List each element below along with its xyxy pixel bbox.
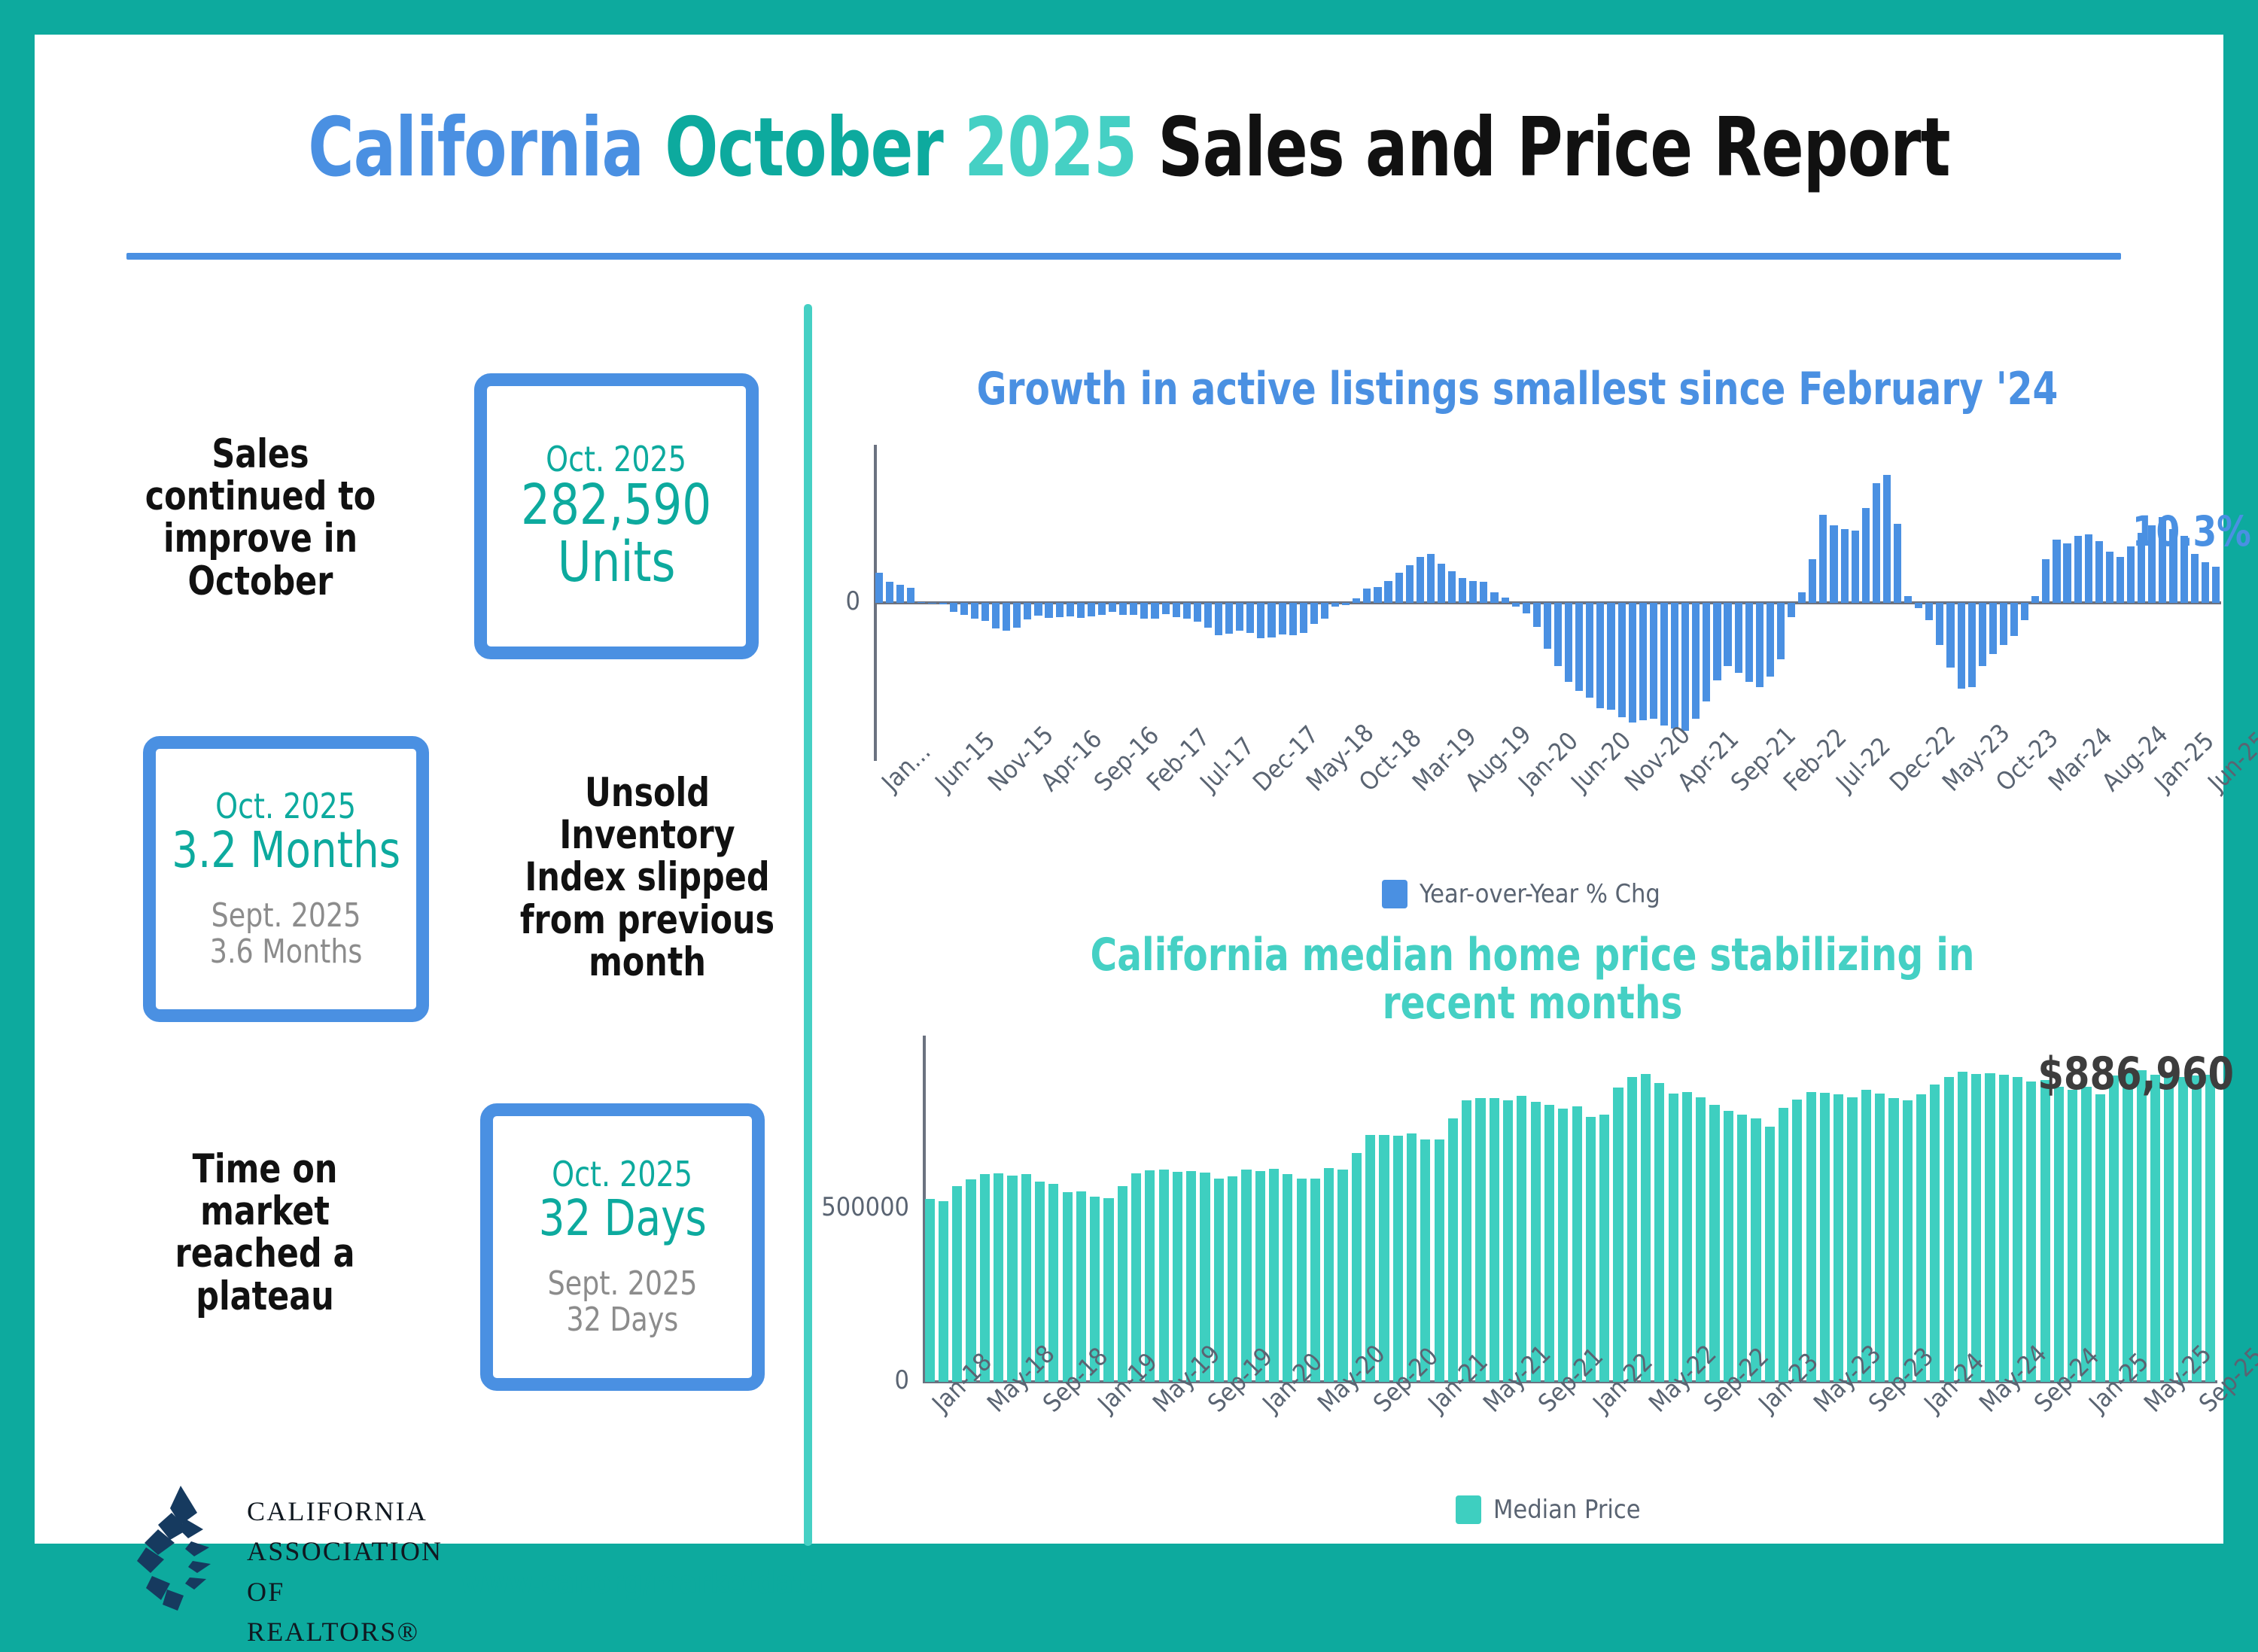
bar: [1225, 603, 1233, 634]
bar-slot: [2211, 445, 2221, 761]
bar-slot: [964, 1036, 978, 1382]
bar-slot: [1281, 1036, 1295, 1382]
bar-slot: [980, 445, 991, 761]
bar-slot: [1763, 1036, 1776, 1382]
bar: [1756, 603, 1763, 687]
bar: [1792, 1100, 1802, 1382]
bar-slot: [1924, 445, 1934, 761]
bar: [1627, 1077, 1637, 1382]
bar-slot: [1047, 1036, 1061, 1382]
bar: [1979, 603, 1986, 666]
bar-slot: [1404, 445, 1415, 761]
bar: [1324, 1168, 1334, 1382]
bar-slot: [1074, 1036, 1088, 1382]
bar: [2031, 596, 2039, 603]
bar-slot: [1277, 445, 1288, 761]
stat-box-days-on-market[interactable]: Oct. 2025 32 Days Sept. 2025 32 Days: [480, 1103, 765, 1391]
bar: [1788, 603, 1795, 617]
bar-slot: [1255, 445, 1266, 761]
bar-slot: [1956, 445, 1967, 761]
bar-slot: [1298, 445, 1309, 761]
bar-slot: [1033, 445, 1043, 761]
bar: [1671, 603, 1678, 729]
bar: [1613, 1088, 1623, 1382]
bar: [981, 603, 989, 621]
bar-slot: [2030, 445, 2040, 761]
bar-slot: [936, 1036, 950, 1382]
bar: [1003, 603, 1010, 631]
blurb-days-on-market: Time on market reached a plateau: [123, 1148, 407, 1318]
bar-slot: [1319, 445, 1330, 761]
bar: [1958, 1072, 1967, 1382]
bar-slot: [1500, 445, 1511, 761]
infographic-frame: California October 2025 Sales and Price …: [35, 35, 2223, 1544]
bar-slot: [1489, 445, 1499, 761]
bar: [1173, 603, 1180, 617]
bar: [896, 585, 904, 603]
bar-slot: [1595, 445, 1605, 761]
bar-slot: [1460, 1036, 1474, 1382]
bar: [1916, 1094, 1926, 1382]
bar: [1737, 1115, 1747, 1382]
bar: [2116, 557, 2124, 603]
logo-line-2: ASSOCIATION: [247, 1532, 443, 1571]
bar-slot: [1570, 1036, 1584, 1382]
bar: [2042, 559, 2050, 603]
bar-slot: [1598, 1036, 1611, 1382]
bar: [2164, 1074, 2174, 1382]
bar: [1517, 1096, 1526, 1382]
bar-slot: [1903, 445, 1913, 761]
bar: [1246, 603, 1254, 633]
stat-inventory-prev-label: Sept. 2025: [211, 898, 361, 934]
bar: [2021, 603, 2028, 620]
bar-slot: [1170, 1036, 1184, 1382]
title-part-california: California: [308, 101, 665, 195]
bar-slot: [1776, 1036, 1790, 1382]
bar-slot: [2083, 445, 2094, 761]
bar: [1713, 603, 1721, 680]
bar: [1903, 1100, 1913, 1382]
bar: [1353, 598, 1360, 603]
bar-slot: [1012, 445, 1022, 761]
bar: [1894, 524, 1901, 603]
title-part-month: October: [665, 101, 964, 195]
y-axis-tick: 500000: [729, 1192, 909, 1222]
bar: [1681, 603, 1689, 731]
blurb-sales: Sales continued to improve in October: [118, 434, 403, 603]
bar-slot: [2025, 1036, 2038, 1382]
bar-slot: [1998, 445, 2009, 761]
legend-median-price: Median Price: [1456, 1495, 1641, 1525]
bar: [980, 1174, 990, 1382]
bar-slot: [1419, 1036, 1432, 1382]
bar-slot: [1818, 1036, 1831, 1382]
bar: [1925, 603, 1933, 620]
bar-slot: [1362, 445, 1372, 761]
bar: [1151, 603, 1158, 619]
bar: [1374, 587, 1381, 603]
bar: [1692, 603, 1700, 719]
bar: [1654, 1083, 1664, 1382]
bar: [1013, 603, 1021, 628]
bar-slot: [1970, 1036, 1983, 1382]
bar-slot: [2062, 445, 2073, 761]
bar-slot: [1744, 445, 1754, 761]
bar-slot: [1694, 1036, 1708, 1382]
bar: [928, 603, 936, 604]
bar-slot: [1501, 1036, 1514, 1382]
bar-slot: [948, 445, 959, 761]
bar-slot: [1553, 445, 1563, 761]
bar-slot: [1887, 1036, 1900, 1382]
bar-slot: [1574, 445, 1584, 761]
bar-slot: [2200, 445, 2211, 761]
bar-slot: [1245, 445, 1255, 761]
bar-slot: [1542, 445, 1553, 761]
bar: [1007, 1176, 1017, 1382]
title-part-year: 2025: [964, 101, 1158, 195]
bar: [1145, 1170, 1155, 1382]
bar-slot: [874, 445, 884, 761]
bar: [2106, 552, 2113, 603]
bar: [1779, 1108, 1788, 1382]
bar: [1475, 1098, 1485, 1382]
bar: [1533, 603, 1541, 627]
bar-slot: [1129, 1036, 1143, 1382]
bar: [1809, 559, 1816, 603]
bar-slot: [1468, 445, 1478, 761]
bar-slot: [1426, 445, 1436, 761]
bar-slot: [1065, 445, 1076, 761]
stat-dom-prev-label: Sept. 2025: [548, 1266, 698, 1302]
bar-slot: [1266, 445, 1277, 761]
bar: [1558, 1109, 1568, 1382]
legend-swatch-icon: [1456, 1495, 1481, 1524]
bar: [1215, 603, 1222, 635]
bar: [1830, 525, 1837, 603]
car-logo-mark: [125, 1483, 238, 1612]
bar-slot: [2019, 445, 2030, 761]
bar: [1989, 603, 1997, 654]
bar: [1883, 475, 1891, 603]
bar-slot: [1377, 1036, 1391, 1382]
bar-slot: [1185, 1036, 1198, 1382]
bar-slot: [1054, 445, 1065, 761]
bar: [1162, 603, 1170, 614]
bar-slot: [1928, 1036, 1942, 1382]
bar: [2191, 554, 2199, 603]
bar-slot: [2009, 445, 2019, 761]
bar: [1269, 1169, 1279, 1382]
bar: [1777, 603, 1785, 659]
bar-slot: [1625, 1036, 1639, 1382]
bar: [1669, 1094, 1678, 1382]
bar: [1194, 603, 1201, 622]
bar: [1395, 573, 1403, 603]
bar-slot: [1515, 1036, 1529, 1382]
bar-slot: [1457, 445, 1468, 761]
bar: [1435, 1139, 1444, 1382]
bar-slot: [1432, 1036, 1446, 1382]
bar: [1310, 603, 1318, 624]
bar-slot: [1584, 445, 1595, 761]
bar: [2095, 541, 2103, 603]
bar: [1407, 1133, 1417, 1382]
bar-slot: [1983, 1036, 1997, 1382]
bar: [2085, 534, 2092, 603]
bar: [1958, 603, 1965, 689]
bar: [1045, 603, 1052, 618]
bar-slot: [1832, 1036, 1846, 1382]
bar-slot: [1340, 445, 1351, 761]
title-divider: [126, 253, 2121, 260]
y-axis-tick: 0: [729, 1365, 909, 1395]
bar: [1289, 603, 1297, 635]
bar: [1703, 603, 1710, 701]
stat-box-inventory[interactable]: Oct. 2025 3.2 Months Sept. 2025 3.6 Mont…: [143, 736, 429, 1022]
stat-inventory-value: 3.2 Months: [172, 825, 400, 875]
bar: [1459, 578, 1466, 603]
bar: [2178, 1077, 2188, 1382]
bar-slot: [1942, 1036, 1955, 1382]
bar-slot: [1861, 445, 1871, 761]
bar: [1554, 603, 1562, 666]
stat-dom-prev-value: 32 Days: [567, 1302, 679, 1338]
bar-slot: [2136, 445, 2147, 761]
bar-slot: [2168, 445, 2178, 761]
bar: [875, 573, 883, 603]
bar: [2150, 1075, 2160, 1382]
bar: [1660, 603, 1668, 726]
callout-active-listings: 10.3%: [2132, 507, 2251, 555]
bar-slot: [1680, 1036, 1693, 1382]
bar: [1724, 603, 1731, 666]
bar-slot: [1712, 445, 1722, 761]
bar-slot: [1913, 445, 1924, 761]
bar-slot: [1638, 445, 1648, 761]
bar: [2026, 1082, 2036, 1382]
bar-slot: [1786, 445, 1797, 761]
bar: [950, 603, 957, 612]
bar-slot: [1267, 1036, 1280, 1382]
bar: [1342, 603, 1350, 605]
bar-slot: [1446, 1036, 1459, 1382]
bar-slot: [1988, 445, 1998, 761]
bar-slot: [2051, 445, 2062, 761]
bar: [1650, 603, 1657, 719]
bar: [1173, 1172, 1182, 1382]
bar-slot: [1708, 1036, 1721, 1382]
bar-slot: [2179, 445, 2190, 761]
bar-slot: [2115, 445, 2126, 761]
bar: [1607, 603, 1614, 710]
bar: [1806, 1092, 1816, 1382]
bar-slot: [1157, 1036, 1170, 1382]
logo-line-3: OF REALTORS®: [247, 1572, 443, 1652]
bar-slot: [1322, 1036, 1336, 1382]
bar: [1599, 1115, 1609, 1382]
bar: [1985, 1073, 1995, 1382]
bar-slot: [1415, 445, 1426, 761]
bar: [1709, 1105, 1719, 1382]
bar: [1873, 483, 1880, 603]
bar: [1300, 603, 1307, 633]
callout-median-price: $886,960: [2037, 1048, 2234, 1100]
bar-slot: [1563, 445, 1574, 761]
legend-active-listings: Year-over-Year % Chg: [1382, 879, 1660, 909]
bar-slot: [1478, 445, 1489, 761]
bar-slot: [1532, 445, 1542, 761]
bar: [1098, 603, 1106, 615]
bar: [1503, 1100, 1513, 1382]
bar-slot: [1859, 1036, 1873, 1382]
bar: [994, 1173, 1003, 1382]
bar: [2000, 603, 2007, 645]
chart-active-listings: 0Jan...Jun-15Nov-15Apr-16Sep-16Feb-17Jul…: [874, 445, 2221, 761]
bar-slot: [1690, 445, 1701, 761]
bar: [2053, 540, 2060, 603]
bar-slot: [1474, 1036, 1487, 1382]
bar: [2081, 1087, 2091, 1382]
bar-slot: [1934, 445, 1945, 761]
bar: [1639, 603, 1647, 720]
bar-slot: [1372, 445, 1383, 761]
bar: [1283, 1174, 1292, 1382]
bar-slot: [1022, 445, 1033, 761]
bar-slot: [923, 1036, 936, 1382]
bar-slot: [1161, 445, 1171, 761]
bar: [1279, 603, 1286, 634]
bar-slot: [916, 445, 927, 761]
bar: [952, 1186, 962, 1382]
bar-slot: [1295, 1036, 1308, 1382]
bar: [1379, 1135, 1389, 1382]
car-logo-text: CALIFORNIA ASSOCIATION OF REALTORS®: [247, 1492, 443, 1652]
bar: [1406, 565, 1414, 603]
bar-slot: [1487, 1036, 1501, 1382]
bar-slot: [1882, 445, 1892, 761]
bar: [1159, 1170, 1169, 1382]
bar: [1438, 564, 1445, 603]
bar-slot: [959, 445, 969, 761]
bar: [1480, 582, 1487, 603]
left-stats-column: Sales continued to improve in October Oc…: [35, 291, 795, 1540]
bar-slot: [1447, 445, 1457, 761]
column-divider: [804, 304, 812, 1546]
chart-median-price: 0500000Jan-18May-18Sep-18Jan-19May-19Sep…: [923, 1036, 2217, 1382]
bar: [2068, 1090, 2077, 1382]
bar: [1745, 603, 1753, 682]
bar: [1847, 1097, 1857, 1382]
bar-slot: [1044, 445, 1054, 761]
bar: [925, 1199, 935, 1382]
bar-slot: [1253, 1036, 1267, 1382]
bar-slot: [1977, 445, 1988, 761]
bar: [1024, 603, 1031, 619]
bar-slot: [2190, 445, 2200, 761]
bar-slot: [1846, 1036, 1859, 1382]
bar-slot: [1203, 445, 1213, 761]
stat-box-sales[interactable]: Oct. 2025 282,590 Units: [474, 373, 759, 659]
bar: [1936, 603, 1943, 645]
bar: [2074, 536, 2082, 603]
bar-slot: [1754, 445, 1765, 761]
bar-slot: [1115, 1036, 1129, 1382]
bar-slot: [1006, 1036, 1019, 1382]
bar-slot: [1149, 445, 1160, 761]
bar-slot: [1659, 445, 1669, 761]
bar: [1257, 603, 1264, 638]
bar-slot: [1308, 1036, 1322, 1382]
bar-slot: [1309, 445, 1319, 761]
bar-slot: [1892, 445, 1903, 761]
bar-slot: [1019, 1036, 1033, 1382]
bar-slot: [1945, 445, 1955, 761]
bar-slot: [2073, 445, 2083, 761]
bar: [1523, 603, 1530, 613]
stat-sales-value: 282,590: [521, 477, 711, 534]
bar: [939, 603, 947, 604]
bar-slot: [1818, 445, 1828, 761]
market-data-url[interactable]: www.car.org/marketdata: [461, 1564, 823, 1601]
bar-slot: [1967, 445, 1977, 761]
bar-slot: [1791, 1036, 1804, 1382]
stat-dom-month: Oct. 2025: [552, 1157, 693, 1193]
bar-slot: [1226, 1036, 1240, 1382]
bar: [1384, 581, 1392, 603]
bar: [1469, 581, 1477, 603]
bar: [1490, 592, 1498, 603]
bar-slot: [1143, 1036, 1157, 1382]
chart-title-median-price: California median home price stabilizing…: [1018, 932, 2047, 1027]
bar-slot: [1765, 445, 1776, 761]
bar: [1915, 603, 1922, 608]
bar-slot: [1521, 445, 1532, 761]
bar-slot: [1627, 445, 1638, 761]
bar: [1862, 508, 1870, 603]
bar-slot: [951, 1036, 964, 1382]
bar: [2095, 1094, 2105, 1382]
bar: [1735, 603, 1742, 673]
bar: [1930, 1085, 1940, 1382]
bar-slot: [1033, 1036, 1046, 1382]
bar: [1971, 1074, 1981, 1382]
bar-slot: [1061, 1036, 1074, 1382]
bar: [1118, 1186, 1127, 1382]
bar: [2202, 562, 2209, 603]
bar-slot: [1394, 445, 1404, 761]
bar-slot: [1669, 445, 1680, 761]
bar-slot: [1336, 1036, 1350, 1382]
bar: [1502, 598, 1509, 603]
bar: [971, 603, 978, 619]
bar-slot: [1383, 445, 1394, 761]
car-logo: CALIFORNIA ASSOCIATION OF REALTORS®: [125, 1480, 426, 1615]
bar-slot: [1097, 445, 1107, 761]
blurb-inventory: Unsold Inventory Index slipped from prev…: [505, 772, 790, 984]
bar: [2137, 1070, 2147, 1382]
bar: [1337, 1170, 1347, 1382]
bar: [1618, 603, 1626, 717]
bar-slot: [1542, 1036, 1556, 1382]
bar-slot: [1584, 1036, 1597, 1382]
bar: [1067, 603, 1074, 616]
bar-slot: [905, 445, 916, 761]
bar-slot: [1171, 445, 1182, 761]
bar: [1427, 554, 1435, 603]
bar-slot: [1639, 1036, 1652, 1382]
